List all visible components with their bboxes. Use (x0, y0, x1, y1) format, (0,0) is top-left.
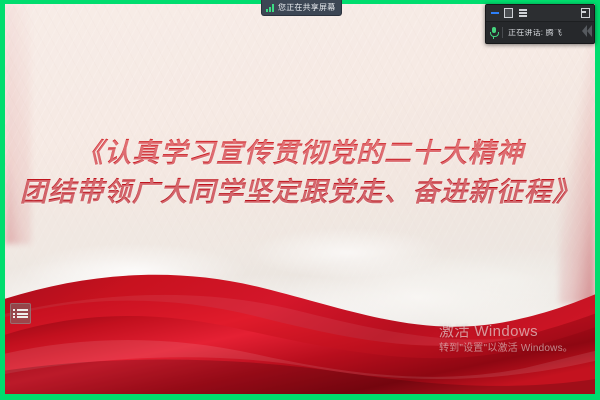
minimize-button[interactable] (490, 9, 499, 18)
chevron-right-icon-2 (587, 25, 592, 37)
microphone-icon[interactable] (490, 27, 497, 39)
screen-share-root: 《认真学习宣传贯彻党的二十大精神 团结带领广大同学坚定跟党走、奋进新征程》 激活… (0, 0, 600, 400)
zoom-panel-titlebar (486, 5, 594, 22)
restore-window-button[interactable] (504, 9, 513, 18)
watermark-subtitle: 转到"设置"以激活 Windows。 (439, 341, 573, 356)
zoom-panel-top-strip (486, 4, 594, 5)
slide-title-line-2: 团结带领广大同学坚定跟党走、奋进新征程》 (5, 173, 595, 212)
windows-activation-watermark: 激活 Windows 转到"设置"以激活 Windows。 (439, 322, 573, 356)
sharing-status-label: 您正在共享屏幕 (278, 4, 335, 12)
list-icon (14, 308, 28, 320)
sharing-status-pill[interactable]: 您正在共享屏幕 (261, 0, 342, 16)
slide-title: 《认真学习宣传贯彻党的二十大精神 团结带领广大同学坚定跟党走、奋进新征程》 (5, 134, 595, 212)
zoom-panel-body: 正在讲话: 腾飞 (486, 22, 594, 43)
watermark-title: 激活 Windows (439, 322, 573, 341)
slideshow-menu-button[interactable] (10, 303, 31, 324)
share-border-right (595, 0, 600, 400)
signal-bars-icon (266, 4, 274, 12)
share-border-bottom (0, 394, 600, 400)
expand-panel-button[interactable] (581, 9, 590, 18)
panel-divider (502, 27, 503, 38)
powerpoint-slide: 《认真学习宣传贯彻党的二十大精神 团结带领广大同学坚定跟党走、奋进新征程》 激活… (5, 4, 595, 394)
zoom-floating-panel[interactable]: 正在讲话: 腾飞 (485, 4, 595, 44)
active-speaker-label: 正在讲话: 腾飞 (508, 29, 562, 37)
list-view-button[interactable] (518, 9, 527, 18)
collapse-panel-button[interactable] (582, 25, 592, 37)
slide-title-line-1: 《认真学习宣传贯彻党的二十大精神 (5, 134, 595, 173)
